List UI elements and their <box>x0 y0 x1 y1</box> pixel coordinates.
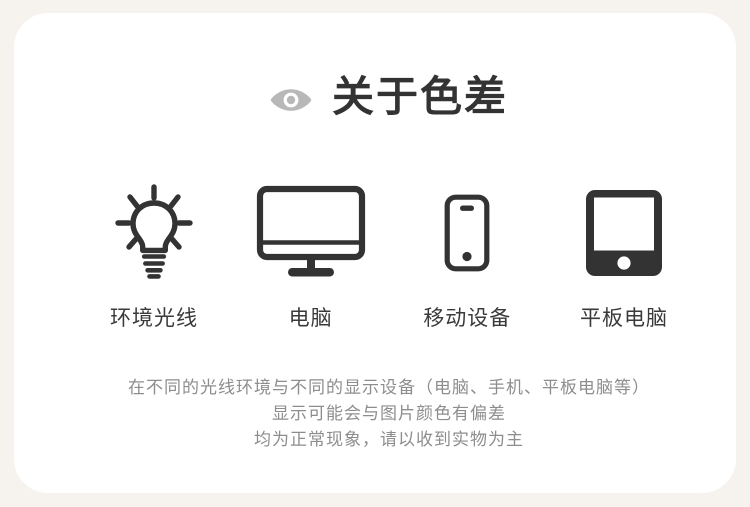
note-line-1: 在不同的光线环境与不同的显示设备（电脑、手机、平板电脑等） <box>14 375 750 401</box>
monitor-icon <box>256 185 366 281</box>
device-item-computer: 电脑 <box>233 181 389 330</box>
notice-card: 关于色差 <box>14 13 736 493</box>
note-line-2: 显示可能会与图片颜色有偏差 <box>14 401 750 427</box>
colour-difference-notice-page: 关于色差 <box>0 0 750 507</box>
device-label: 环境光线 <box>110 307 198 330</box>
disclaimer-note: 在不同的光线环境与不同的显示设备（电脑、手机、平板电脑等） 显示可能会与图片颜色… <box>14 375 750 453</box>
device-label: 移动设备 <box>423 307 511 330</box>
device-label: 平板电脑 <box>580 307 668 330</box>
page-header: 关于色差 <box>14 75 750 119</box>
device-icon-wrap <box>256 181 366 285</box>
page-title: 关于色差 <box>332 75 508 119</box>
device-list: 环境光线 电脑 <box>76 181 702 330</box>
note-line-3: 均为正常现象，请以收到实物为主 <box>14 427 750 453</box>
device-item-tablet: 平板电脑 <box>546 181 702 330</box>
lightbulb-icon <box>108 183 200 283</box>
device-icon-wrap <box>586 181 662 285</box>
eye-icon <box>270 87 312 113</box>
smartphone-icon <box>444 194 490 272</box>
device-item-mobile: 移动设备 <box>389 181 545 330</box>
device-item-ambient-light: 环境光线 <box>76 181 232 330</box>
tablet-icon <box>586 190 662 276</box>
device-label: 电脑 <box>289 307 333 330</box>
device-icon-wrap <box>444 181 490 285</box>
device-icon-wrap <box>108 181 200 285</box>
